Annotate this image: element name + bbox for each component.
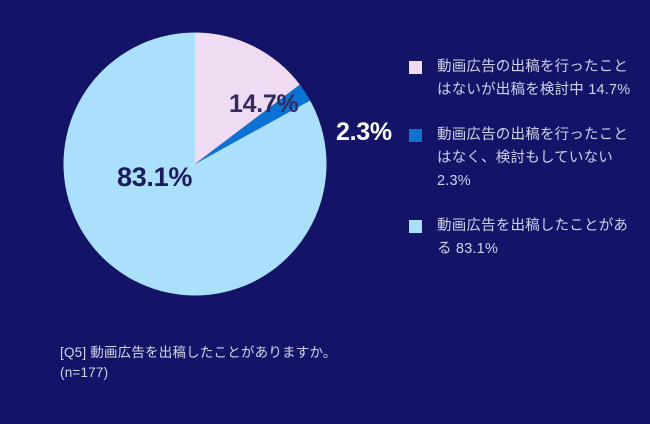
legend-swatch-icon-has-placed <box>409 220 422 233</box>
legend-label-considering: 動画広告の出稿を行ったことはないが出稿を検討中 14.7% <box>437 56 637 102</box>
pie-chart-graphic <box>63 32 327 296</box>
caption-question: [Q5] 動画広告を出稿したことがありますか。 <box>60 343 337 363</box>
legend-swatch-icon-considering <box>409 61 422 74</box>
slice-label-not-considering: 2.3% <box>336 120 392 145</box>
legend-swatch-icon-not-considering <box>409 129 422 142</box>
legend-label-not-considering: 動画広告の出稿を行ったことはなく、検討もしていない 2.3% <box>437 124 637 193</box>
pie-slice-group <box>64 33 327 296</box>
slice-label-considering: 14.7% <box>229 92 298 117</box>
pie-svg <box>63 32 327 296</box>
pie-chart-figure: 83.1% 14.7% 2.3% 動画広告の出稿を行ったことはないが出稿を検討中… <box>0 0 650 424</box>
legend-item-has-placed[interactable]: 動画広告を出稿したことがある 83.1% <box>409 215 637 261</box>
legend-item-not-considering[interactable]: 動画広告の出稿を行ったことはなく、検討もしていない 2.3% <box>409 124 637 193</box>
slice-label-has-placed: 83.1% <box>117 164 192 191</box>
chart-caption: [Q5] 動画広告を出稿したことがありますか。 (n=177) <box>60 343 337 383</box>
caption-sample-size: (n=177) <box>60 363 337 383</box>
chart-legend: 動画広告の出稿を行ったことはないが出稿を検討中 14.7% 動画広告の出稿を行っ… <box>409 56 637 283</box>
legend-item-considering[interactable]: 動画広告の出稿を行ったことはないが出稿を検討中 14.7% <box>409 56 637 102</box>
legend-label-has-placed: 動画広告を出稿したことがある 83.1% <box>437 215 637 261</box>
